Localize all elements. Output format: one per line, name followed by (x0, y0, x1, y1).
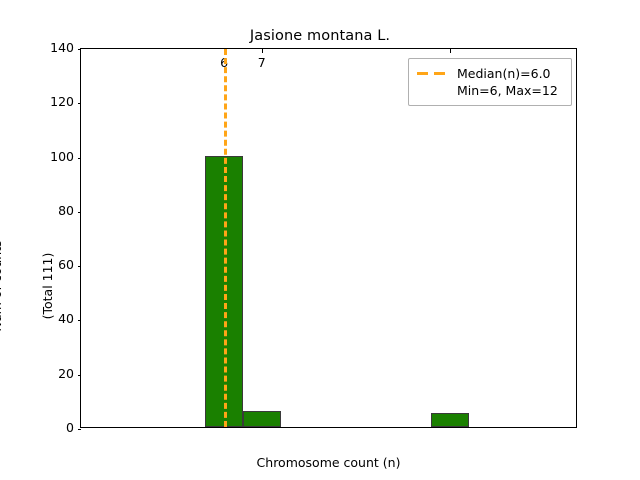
y-tick-label: 0 (66, 420, 74, 435)
legend: Median(n)=6.0 Min=6, Max=12 (408, 58, 572, 106)
y-axis-label-line1: Num of counts (0, 96, 5, 476)
bar (243, 411, 281, 427)
y-tick-label: 60 (58, 257, 74, 272)
legend-line1: Median(n)=6.0 (457, 66, 551, 81)
legend-item-label: Median(n)=6.0 Min=6, Max=12 (457, 65, 558, 99)
bar (431, 413, 469, 427)
x-axis-label: Chromosome count (n) (80, 455, 577, 470)
legend-line2: Min=6, Max=12 (457, 82, 558, 99)
y-tick-label: 100 (50, 149, 74, 164)
y-axis-label: Num of counts (Total 111) (0, 96, 90, 476)
y-tick-label: 40 (58, 311, 74, 326)
median-line (224, 49, 227, 427)
y-tick-label: 20 (58, 366, 74, 381)
y-tick-mark (78, 429, 82, 430)
dashed-line-icon (416, 65, 450, 82)
legend-item: Median(n)=6.0 Min=6, Max=12 (416, 65, 564, 99)
figure-canvas: Jasione montana L. Num of counts (Total … (0, 0, 640, 480)
y-tick-label: 120 (50, 94, 74, 109)
y-tick-label: 80 (58, 203, 74, 218)
y-tick-label: 140 (50, 40, 74, 55)
y-axis-label-wrapper: Num of counts (Total 111) (0, 0, 34, 480)
page-title: Jasione montana L. (0, 28, 640, 44)
